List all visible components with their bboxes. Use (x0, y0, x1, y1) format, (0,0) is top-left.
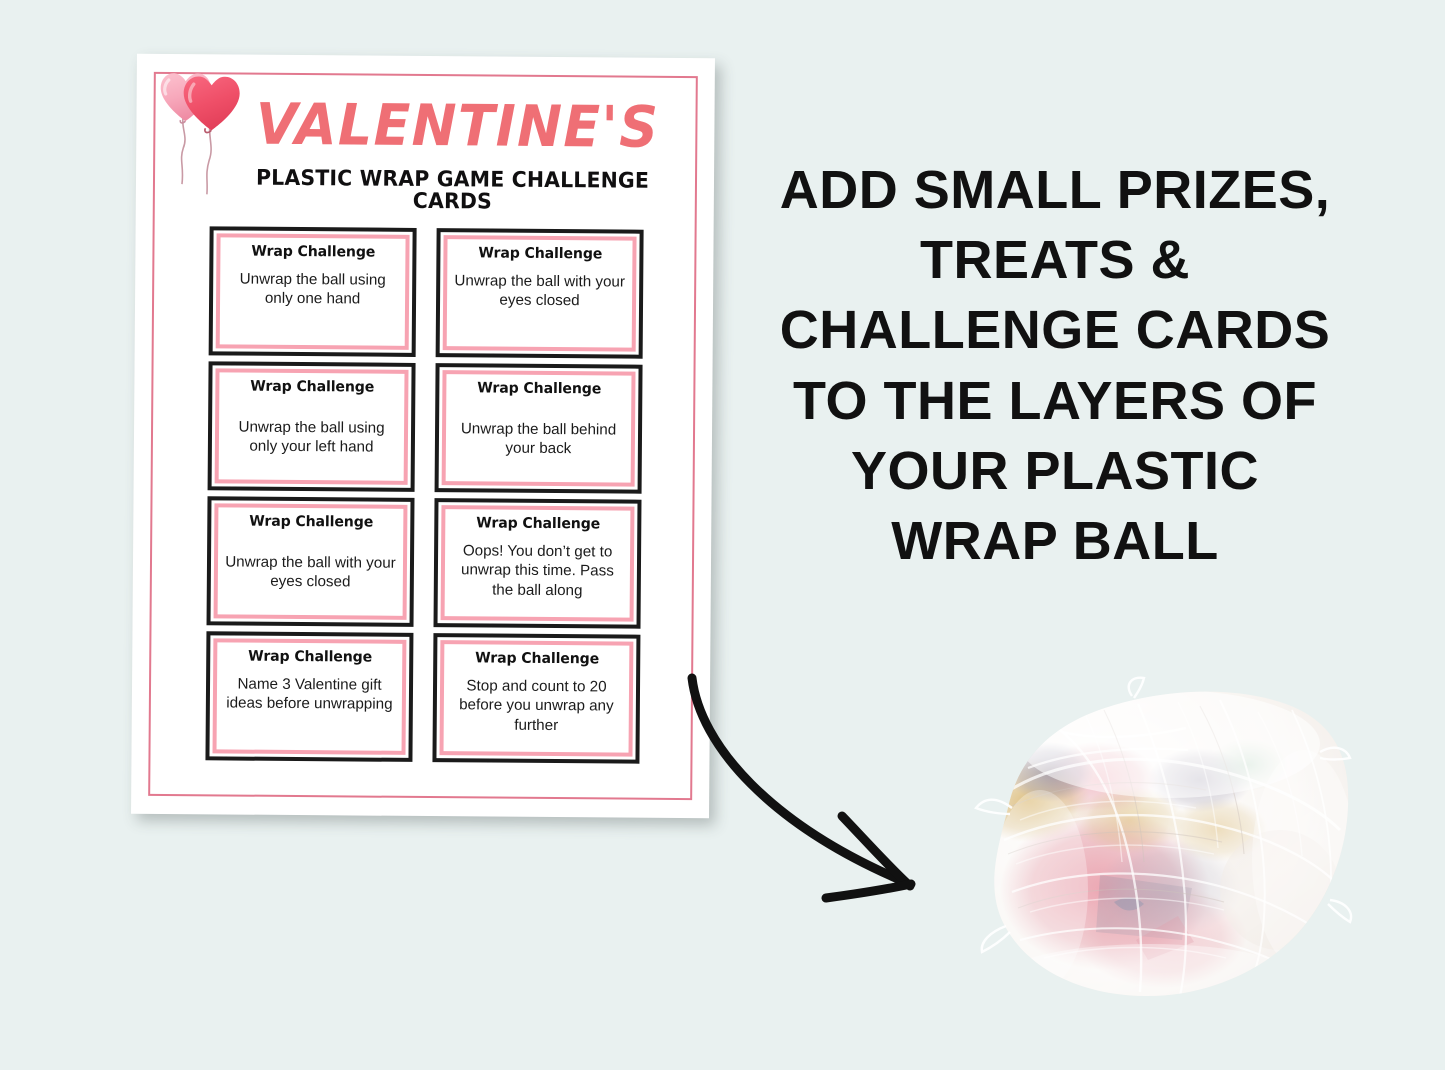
challenge-card: Wrap ChallengeOops! You don’t get to unw… (433, 498, 641, 629)
headline-line: WRAP BALL (740, 506, 1370, 576)
card-heading: Wrap Challenge (248, 650, 372, 667)
card-body-text: Unwrap the ball with your eyes closed (454, 271, 625, 311)
challenge-card: Wrap ChallengeName 3 Valentine gift idea… (205, 631, 413, 762)
printable-title-block: VALENTINE'S PLASTIC WRAP GAME CHALLENGE … (196, 96, 693, 214)
card-pink-frame: Wrap ChallengeUnwrap the ball using only… (216, 233, 410, 350)
headline-text: ADD SMALL PRIZES,TREATS &CHALLENGE CARDS… (740, 155, 1370, 576)
card-body-text: Name 3 Valentine gift ideas before unwra… (224, 674, 395, 714)
card-body-text: Unwrap the ball using only your left han… (226, 417, 397, 457)
card-pink-frame: Wrap ChallengeUnwrap the ball with your … (214, 503, 408, 620)
card-heading: Wrap Challenge (477, 381, 601, 398)
challenge-cards-grid: Wrap ChallengeUnwrap the ball using only… (205, 226, 643, 763)
card-heading: Wrap Challenge (251, 245, 375, 262)
headline-line: YOUR PLASTIC (740, 436, 1370, 506)
card-heading: Wrap Challenge (478, 246, 602, 263)
card-heading: Wrap Challenge (250, 380, 374, 397)
headline-line: CHALLENGE CARDS (740, 295, 1370, 365)
challenge-card: Wrap ChallengeUnwrap the ball with your … (436, 228, 644, 359)
card-pink-frame: Wrap ChallengeUnwrap the ball using only… (215, 368, 409, 485)
card-body-text: Stop and count to 20 before you unwrap a… (451, 676, 622, 736)
card-pink-frame: Wrap ChallengeOops! You don’t get to unw… (441, 505, 635, 622)
headline-line: ADD SMALL PRIZES, (740, 155, 1370, 225)
challenge-card: Wrap ChallengeUnwrap the ball using only… (209, 226, 417, 357)
card-heading: Wrap Challenge (249, 515, 373, 532)
headline-line: TO THE LAYERS OF (740, 366, 1370, 436)
headline-line: TREATS & (740, 225, 1370, 295)
card-body-text: Oops! You don’t get to unwrap this time.… (452, 541, 623, 601)
printable-page: VALENTINE'S PLASTIC WRAP GAME CHALLENGE … (131, 54, 715, 819)
card-heading: Wrap Challenge (476, 516, 600, 533)
challenge-card: Wrap ChallengeStop and count to 20 befor… (432, 633, 640, 764)
card-pink-frame: Wrap ChallengeName 3 Valentine gift idea… (213, 638, 407, 755)
card-body-text: Unwrap the ball with your eyes closed (225, 552, 396, 592)
challenge-card: Wrap ChallengeUnwrap the ball using only… (208, 361, 416, 492)
card-pink-frame: Wrap ChallengeUnwrap the ball with your … (443, 235, 637, 352)
page-title: VALENTINE'S (211, 96, 678, 157)
page-subtitle: PLASTIC WRAP GAME CHALLENGE CARDS (208, 167, 680, 214)
card-body-text: Unwrap the ball using only one hand (227, 269, 398, 309)
challenge-card: Wrap ChallengeUnwrap the ball with your … (207, 496, 415, 627)
card-heading: Wrap Challenge (475, 651, 599, 668)
card-pink-frame: Wrap ChallengeStop and count to 20 befor… (439, 640, 633, 757)
card-body-text: Unwrap the ball behind your back (453, 419, 624, 459)
card-pink-frame: Wrap ChallengeUnwrap the ball behind you… (442, 370, 636, 487)
plastic-wrap-ball-photo (900, 640, 1360, 1060)
challenge-card: Wrap ChallengeUnwrap the ball behind you… (435, 363, 643, 494)
